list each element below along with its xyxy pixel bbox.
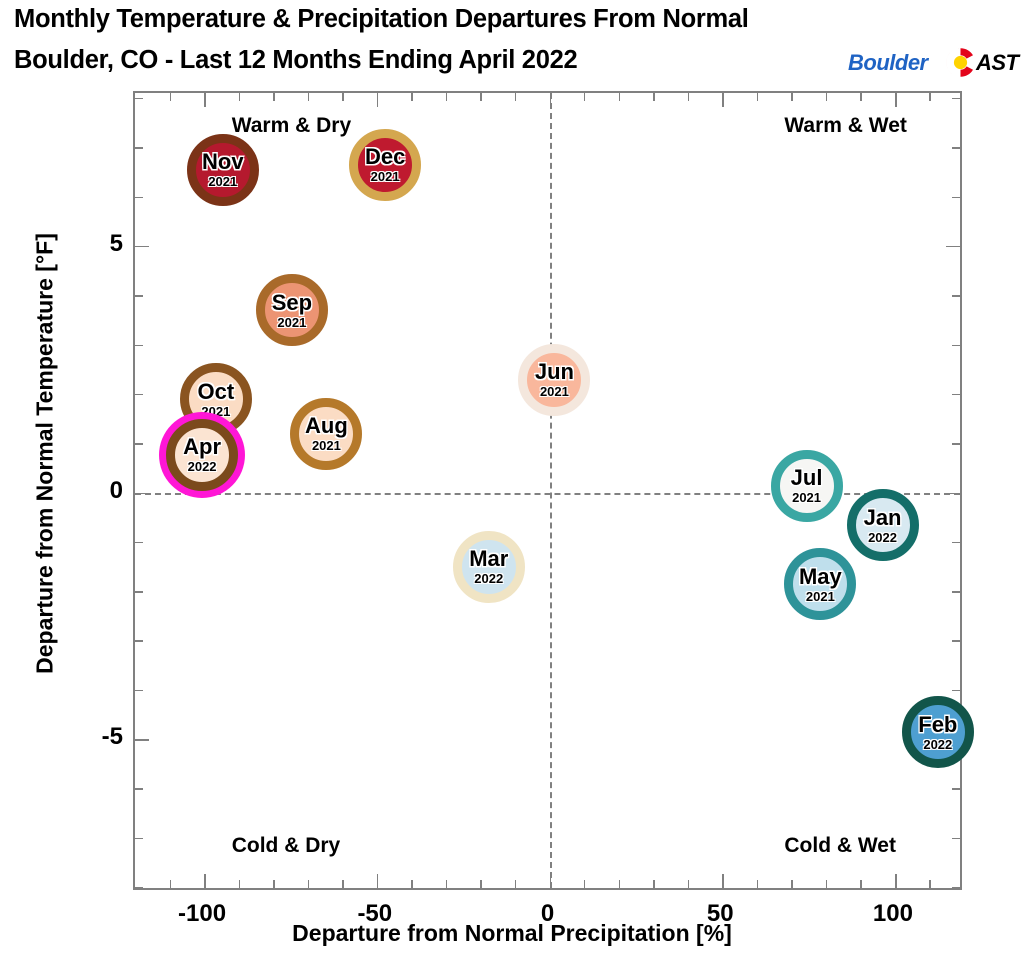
chart-header: Monthly Temperature & Precipitation Depa… [0,0,1024,90]
y-axis-tick [952,443,960,444]
bubble-month-label: Apr [183,436,221,458]
page-title-line-2: Boulder, CO - Last 12 Months Ending Apri… [14,46,577,75]
data-bubble-feb-2022[interactable]: Feb2022 [902,696,974,768]
bubble-year-label: 2021 [371,170,400,183]
data-bubble-sep-2021[interactable]: Sep2021 [256,274,328,346]
x-axis-tick [722,93,724,107]
y-axis-tick [952,591,960,592]
bubble-year-label: 2021 [540,385,569,398]
x-axis-tick [446,880,447,888]
x-axis-tick [377,93,379,107]
x-axis-tick [826,880,827,888]
x-axis-tick [826,93,827,101]
x-axis-tick [377,874,379,888]
bubble-month-label: Jan [864,507,902,529]
y-axis-tick [135,147,143,148]
x-axis-tick [619,93,620,101]
y-axis-tick [135,640,143,641]
x-tick-label-50: 50 [707,900,734,928]
x-axis-tick [273,93,274,101]
y-axis-tick [135,197,143,198]
x-axis-tick [757,880,758,888]
x-axis-tick [273,880,274,888]
y-axis-tick [135,394,143,395]
x-tick-label--50: -50 [357,900,392,928]
x-axis-tick [722,874,724,888]
bubble-month-label: Dec [365,146,405,168]
x-axis-tick [791,93,792,101]
page-title-line-1: Monthly Temperature & Precipitation Depa… [14,5,749,34]
y-axis-tick [135,345,143,346]
zero-precipitation-line [550,93,552,888]
x-axis-tick [411,93,412,101]
y-axis-tick [135,739,149,741]
colorado-c-icon [943,45,978,80]
x-axis-tick [515,93,516,101]
x-axis-tick [895,93,897,107]
data-bubble-dec-2021[interactable]: Dec2021 [349,129,421,201]
bubble-month-label: Mar [469,548,508,570]
data-bubble-nov-2021[interactable]: Nov2021 [187,134,259,206]
y-axis-tick [135,443,143,444]
x-axis-tick [204,874,206,888]
x-axis-tick [308,93,309,101]
y-axis-tick [952,394,960,395]
x-axis-tick [515,880,516,888]
x-axis-tick [757,93,758,101]
logo-text-ast: AST [976,50,1019,76]
bubble-month-label: Jun [535,361,574,383]
y-axis-tick [135,295,143,296]
bubble-month-label: Nov [202,151,244,173]
data-bubble-apr-2022[interactable]: Apr2022 [166,419,238,491]
bubble-year-label: 2021 [277,316,306,329]
x-axis-tick [929,880,930,888]
x-axis-tick [895,874,897,888]
y-axis-tick [952,542,960,543]
x-tick-label--100: -100 [178,900,226,928]
bubble-year-label: 2021 [208,175,237,188]
y-tick-label-0: 0 [75,477,123,505]
y-axis-title: Departure from Normal Temperature [°F] [32,104,59,804]
y-axis-tick [952,345,960,346]
x-tick-label-100: 100 [873,900,913,928]
bubble-year-label: 2022 [923,738,952,751]
x-axis-tick [688,93,689,101]
y-axis-tick [952,887,960,888]
x-axis-tick [653,93,654,101]
x-axis-tick [170,880,171,888]
y-tick-label-5: 5 [75,230,123,258]
data-bubble-mar-2022[interactable]: Mar2022 [453,531,525,603]
bubble-year-label: 2022 [188,460,217,473]
bubble-month-label: Oct [198,381,235,403]
bubble-year-label: 2022 [474,572,503,585]
x-axis-tick [239,93,240,101]
x-axis-tick [308,880,309,888]
quadrant-label-warm-dry: Warm & Dry [232,114,351,138]
data-bubble-jul-2021[interactable]: Jul2021 [771,450,843,522]
y-axis-tick [952,838,960,839]
quadrant-label-warm-wet: Warm & Wet [784,114,907,138]
bubble-month-label: Aug [305,415,348,437]
x-axis-tick [411,880,412,888]
x-axis-tick [480,880,481,888]
bubble-month-label: Feb [918,714,957,736]
x-axis-tick [791,880,792,888]
logo-text-boulder: Boulder [848,50,928,76]
quadrant-label-cold-dry: Cold & Dry [232,834,341,858]
y-axis-tick [135,690,143,691]
x-axis-tick [860,880,861,888]
x-axis-tick [170,93,171,101]
y-axis-tick [952,295,960,296]
y-axis-tick [135,98,143,99]
y-axis-tick [952,788,960,789]
bubble-month-label: May [799,566,842,588]
y-axis-tick [135,838,143,839]
y-axis-tick [952,98,960,99]
y-axis-tick [135,246,149,248]
y-axis-tick [135,591,143,592]
bubble-year-label: 2021 [806,590,835,603]
x-axis-title: Departure from Normal Precipitation [%] [0,920,1024,947]
x-axis-tick [688,880,689,888]
y-tick-label--5: -5 [75,723,123,751]
bubble-year-label: 2021 [792,491,821,504]
x-axis-tick [204,93,206,107]
data-bubble-jan-2022[interactable]: Jan2022 [847,489,919,561]
x-axis-tick [929,93,930,101]
bubble-year-label: 2022 [868,531,897,544]
data-bubble-jun-2021[interactable]: Jun2021 [518,344,590,416]
x-axis-tick [342,93,343,101]
y-axis-tick [946,246,960,248]
data-bubble-aug-2021[interactable]: Aug2021 [290,398,362,470]
x-axis-tick [653,880,654,888]
x-axis-tick [342,880,343,888]
x-tick-label-0: 0 [541,900,554,928]
x-axis-tick [584,880,585,888]
y-axis-tick [135,887,143,888]
x-axis-tick [239,880,240,888]
x-axis-tick [860,93,861,101]
quadrant-label-cold-wet: Cold & Wet [784,834,896,858]
x-axis-tick [584,93,585,101]
y-axis-tick [952,640,960,641]
y-axis-tick [952,690,960,691]
y-axis-tick [135,788,143,789]
x-axis-tick [480,93,481,101]
y-axis-tick [952,197,960,198]
y-axis-tick [952,147,960,148]
x-axis-tick [446,93,447,101]
bubble-month-label: Jul [791,467,823,489]
x-axis-tick [619,880,620,888]
y-axis-tick [135,542,143,543]
bubble-month-label: Sep [272,292,312,314]
bubble-year-label: 2021 [312,439,341,452]
